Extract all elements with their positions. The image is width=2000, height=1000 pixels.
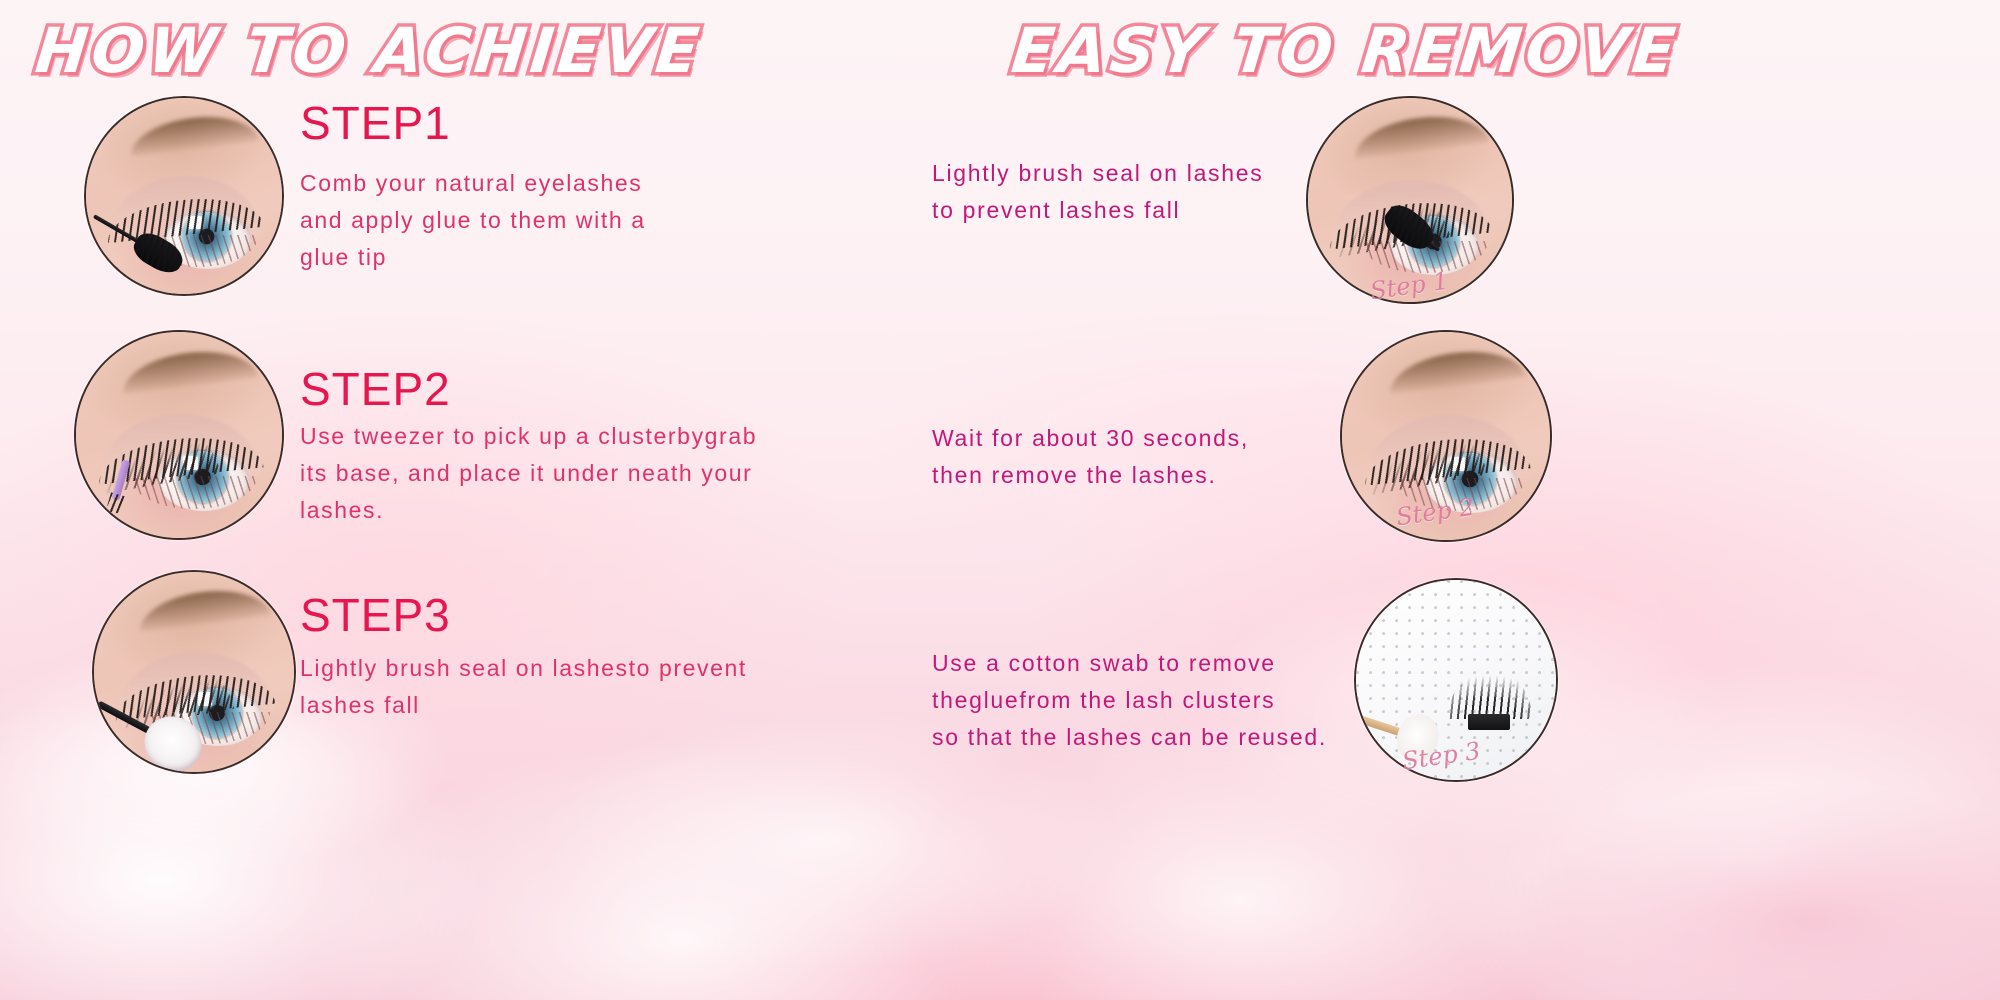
paragraph-line: Use a cotton swab to remove bbox=[932, 645, 1372, 682]
right-step1-paragraph: Lightly brush seal on lashes to prevent … bbox=[932, 155, 1332, 229]
left-step1-heading: STEP1 bbox=[300, 96, 451, 150]
cloud-decoration bbox=[1500, 780, 2000, 1000]
left-step3-heading: STEP3 bbox=[300, 588, 451, 642]
eye-illustration bbox=[86, 98, 282, 294]
paragraph-line: Comb your natural eyelashes bbox=[300, 165, 730, 202]
paragraph-line: so that the lashes can be reused. bbox=[932, 719, 1372, 756]
paragraph-line: and apply glue to them with a bbox=[300, 202, 730, 239]
paragraph-line: lashes fall bbox=[300, 687, 820, 724]
eyebrow bbox=[120, 344, 259, 393]
eye-illustration bbox=[76, 332, 282, 538]
paragraph-line: Lightly brush seal on lashesto prevent bbox=[300, 650, 820, 687]
banner-canvas: HOW TO ACHIEVE EASY TO REMOVE STEP1 Comb… bbox=[0, 0, 2000, 1000]
right-step2-paragraph: Wait for about 30 seconds, then remove t… bbox=[932, 420, 1332, 494]
left-step1-paragraph: Comb your natural eyelashes and apply gl… bbox=[300, 165, 730, 276]
left-step1-photo bbox=[84, 96, 284, 296]
paragraph-line: glue tip bbox=[300, 239, 730, 276]
eyebrow bbox=[137, 584, 272, 632]
paragraph-line: thegluefrom the lash clusters bbox=[932, 682, 1372, 719]
left-step2-heading: STEP2 bbox=[300, 362, 451, 416]
left-section-title: HOW TO ACHIEVE bbox=[32, 14, 706, 87]
left-step3-paragraph: Lightly brush seal on lashesto prevent l… bbox=[300, 650, 820, 724]
eyebrow bbox=[128, 110, 260, 157]
paragraph-line: Wait for about 30 seconds, bbox=[932, 420, 1332, 457]
paragraph-line: its base, and place it under neath your bbox=[300, 455, 820, 492]
right-section-title: EASY TO REMOVE bbox=[1008, 14, 1682, 87]
eye-illustration bbox=[94, 572, 294, 772]
paragraph-line: Lightly brush seal on lashes bbox=[932, 155, 1332, 192]
paragraph-line: lashes. bbox=[300, 492, 820, 529]
paragraph-line: Use tweezer to pick up a clusterbygrab bbox=[300, 418, 820, 455]
right-step3-paragraph: Use a cotton swab to remove thegluefrom … bbox=[932, 645, 1372, 756]
left-step2-paragraph: Use tweezer to pick up a clusterbygrab i… bbox=[300, 418, 820, 529]
paragraph-line: then remove the lashes. bbox=[932, 457, 1332, 494]
lower-lashes bbox=[130, 476, 258, 509]
paragraph-line: to prevent lashes fall bbox=[932, 192, 1332, 229]
eyebrow bbox=[1386, 345, 1526, 395]
eyebrow bbox=[1351, 110, 1489, 159]
left-step2-photo bbox=[74, 330, 284, 540]
left-step3-photo bbox=[92, 570, 296, 774]
lash-cluster bbox=[1444, 668, 1536, 748]
